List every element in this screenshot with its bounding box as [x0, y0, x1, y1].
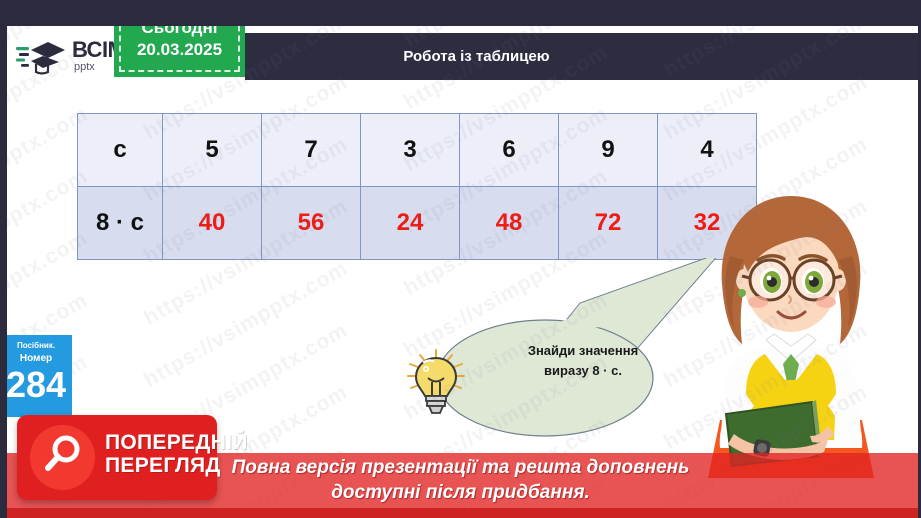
bubble-line-1: Знайди значення — [478, 341, 688, 361]
date-badge-date: 20.03.2025 — [137, 39, 222, 60]
speech-bubble-text: Знайди значення виразу 8 · с. — [478, 341, 688, 381]
logo-inner: ВСІМ pptx — [15, 36, 125, 76]
header-bar: Робота із таблицею — [245, 33, 918, 80]
speech-bubble: Знайди значення виразу 8 · с. — [420, 258, 740, 448]
table-cell: 56 — [262, 187, 361, 260]
table-row: с 5 7 3 6 9 4 — [78, 114, 757, 187]
preview-button-line1: ПОПЕРЕДНІЙ — [105, 432, 248, 455]
preview-icon-circle — [30, 425, 95, 490]
bubble-line-2: виразу 8 · с. — [478, 361, 688, 381]
number-badge-value: 284 — [6, 367, 66, 403]
table-cell: 72 — [559, 187, 658, 260]
preview-button-labels: ПОПЕРЕДНІЙ ПЕРЕГЛЯД — [105, 432, 248, 477]
table-cell: 9 — [559, 114, 658, 187]
preview-button[interactable]: ПОПЕРЕДНІЙ ПЕРЕГЛЯД — [17, 415, 217, 500]
values-table: с 5 7 3 6 9 4 8 · с 40 56 24 48 72 32 — [77, 113, 757, 260]
table-row: 8 · с 40 56 24 48 72 32 — [78, 187, 757, 260]
slide-frame-left — [0, 0, 7, 518]
preview-button-line2: ПЕРЕГЛЯД — [105, 455, 248, 478]
watermark-text: https://vsimpptx.com — [140, 256, 352, 392]
purchase-banner-line2: доступні після придбання. — [331, 481, 590, 506]
table-cell: 48 — [460, 187, 559, 260]
table-cell: 7 — [262, 114, 361, 187]
slide-frame-top — [0, 0, 921, 26]
lightbulb-icon — [406, 348, 468, 425]
number-badge-line1: Посібник. — [17, 341, 55, 352]
page-title: Робота із таблицею — [403, 48, 549, 65]
table-cell: 8 · с — [78, 187, 163, 260]
table-cell: 24 — [361, 187, 460, 260]
number-badge-line2: Номер — [20, 352, 52, 366]
bottom-strip — [0, 508, 921, 518]
magnifier-icon — [41, 433, 85, 482]
purchase-banner-line1: Повна версія презентації та решта доповн… — [232, 456, 690, 481]
slide-canvas: https://vsimpptx.comhttps://vsimpptx.com… — [0, 0, 921, 518]
table-cell: с — [78, 114, 163, 187]
table-cell: 40 — [163, 187, 262, 260]
table-cell: 3 — [361, 114, 460, 187]
graduation-cap-icon — [15, 36, 67, 76]
number-badge: Посібник. Номер 284 — [0, 335, 72, 417]
table-cell: 6 — [460, 114, 559, 187]
table-cell: 5 — [163, 114, 262, 187]
